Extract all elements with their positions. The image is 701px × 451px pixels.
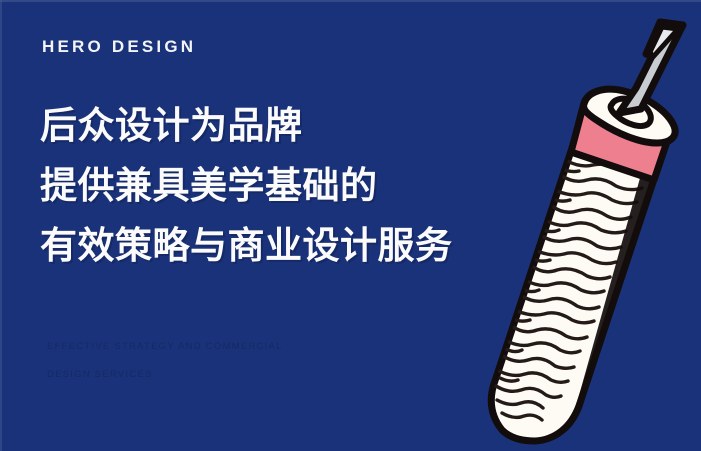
headline-line-1: 后众设计为品牌 <box>40 96 520 156</box>
headline-line-2: 提供兼具美学基础的 <box>40 156 520 216</box>
left-edge-highlight <box>0 0 2 451</box>
cap-body <box>584 89 676 143</box>
blade-body <box>619 22 683 113</box>
blade-tip-facet <box>650 27 678 57</box>
cap-collar <box>611 99 651 126</box>
headline-block: 后众设计为品牌 提供兼具美学基础的 有效策略与商业设计服务 <box>40 96 520 276</box>
pink-band-group <box>571 95 672 180</box>
subcopy-line-1: EFFECTIVE STRATEGY AND COMMERCIAL <box>47 333 377 361</box>
subcopy-line-2: DESIGN SERVICES <box>47 361 377 389</box>
headline-line-3: 有效策略与商业设计服务 <box>40 216 520 276</box>
handle-shadow-edge <box>550 173 656 438</box>
top-edge-highlight <box>0 0 701 2</box>
hero-banner: HERO DESIGN 后众设计为品牌 提供兼具美学基础的 有效策略与商业设计服… <box>0 0 701 451</box>
cap-group <box>584 89 676 143</box>
blade-group <box>619 22 683 113</box>
brand-wordmark: HERO DESIGN <box>42 38 196 55</box>
pink-band <box>571 95 672 180</box>
subcopy-block: EFFECTIVE STRATEGY AND COMMERCIAL DESIGN… <box>47 333 377 389</box>
